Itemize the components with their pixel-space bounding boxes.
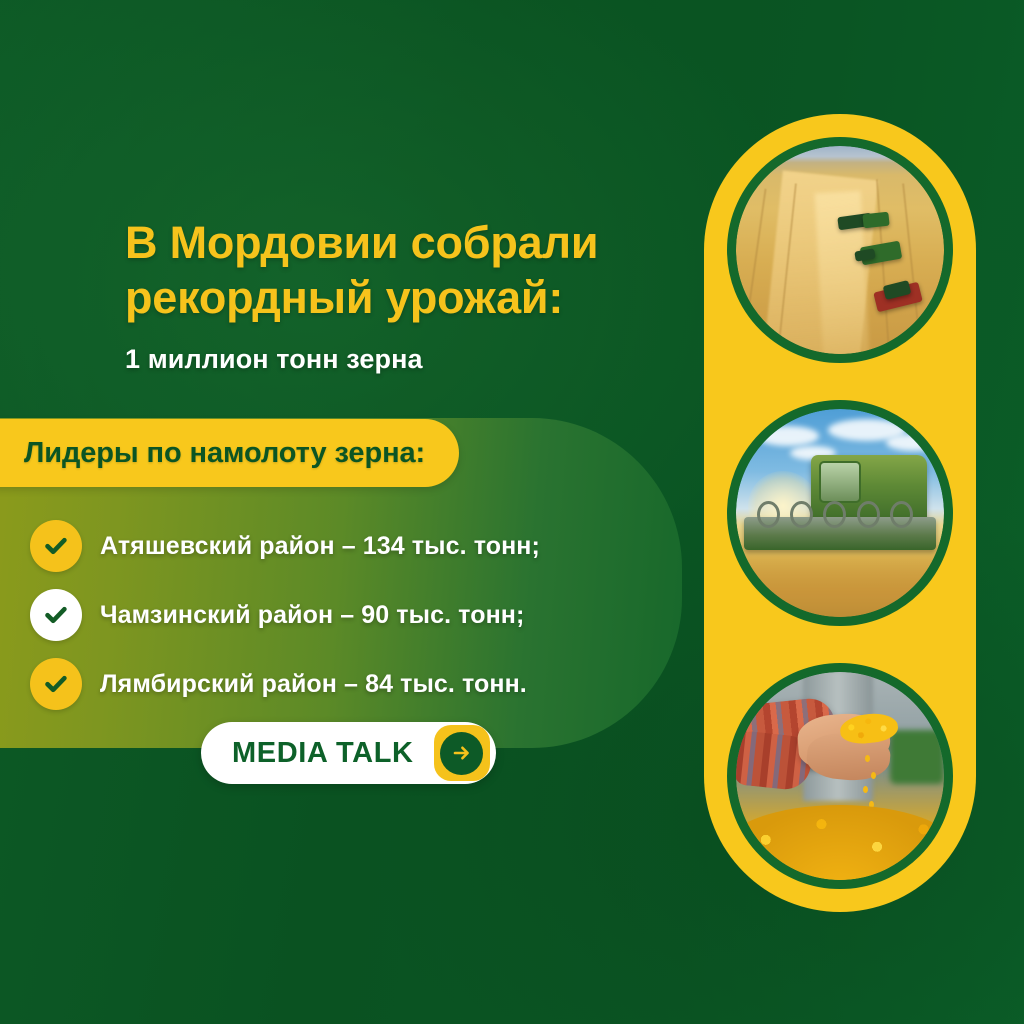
- infographic-poster: В Мордовии собрали рекордный урожай: 1 м…: [0, 0, 1024, 1024]
- list-item-label: Лямбирский район – 84 тыс. тонн.: [100, 670, 527, 699]
- headline: В Мордовии собрали рекордный урожай:: [125, 216, 685, 326]
- media-talk-button[interactable]: MEDIA TALK: [201, 722, 496, 784]
- hands-with-corn-photo: [727, 663, 953, 889]
- leaders-list: Атяшевский район – 134 тыс. тонн; Чамзин…: [30, 512, 650, 719]
- leaders-banner-label: Лидеры по намолоту зерна:: [24, 437, 425, 470]
- list-item-label: Атяшевский район – 134 тыс. тонн;: [100, 532, 540, 561]
- list-item: Чамзинский район – 90 тыс. тонн;: [30, 581, 650, 649]
- check-icon: [30, 520, 82, 572]
- media-talk-arrow-box[interactable]: [434, 725, 490, 781]
- check-icon: [30, 658, 82, 710]
- list-item: Лямбирский район – 84 тыс. тонн.: [30, 650, 650, 718]
- leaders-banner: Лидеры по намолоту зерна:: [0, 419, 459, 487]
- list-item-label: Чамзинский район – 90 тыс. тонн;: [100, 601, 524, 630]
- combine-harvester-photo: [727, 400, 953, 626]
- headline-line-1: В Мордовии собрали: [125, 216, 685, 271]
- headline-line-2: рекордный урожай:: [125, 271, 685, 326]
- aerial-wheat-harvest-photo: [727, 137, 953, 363]
- check-icon: [30, 589, 82, 641]
- media-talk-label: MEDIA TALK: [232, 737, 414, 770]
- list-item: Атяшевский район – 134 тыс. тонн;: [30, 512, 650, 580]
- arrow-right-icon: [440, 732, 483, 775]
- photo-column: [704, 114, 976, 912]
- subheadline: 1 миллион тонн зерна: [125, 344, 423, 375]
